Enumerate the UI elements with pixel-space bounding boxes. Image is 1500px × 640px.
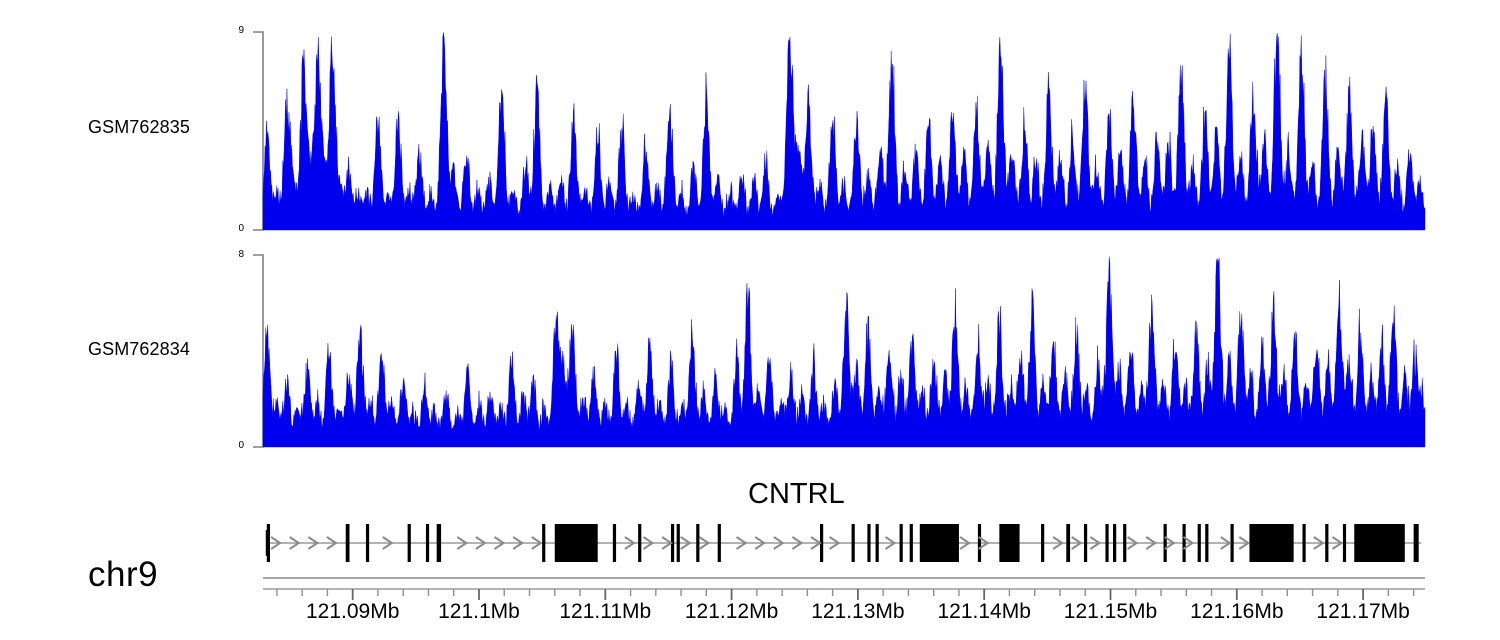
track1-coverage-signal [263,33,1425,230]
gene-exon [542,524,545,562]
gene-exon [852,524,855,562]
gene-exon [1105,524,1108,562]
gene-exon [1343,524,1346,562]
gene-exon [1164,524,1167,562]
gene-exon [677,524,680,562]
gene-exon [638,524,641,562]
track1-y-axis [253,32,263,230]
gene-exon [613,524,616,562]
gene-exon [267,524,270,562]
gene-exon [1198,524,1201,562]
gene-exon [910,524,913,562]
gene-exon [1041,524,1044,562]
gene-exon [1066,524,1070,562]
gene-exon [1354,524,1405,562]
gene-exon [1123,524,1126,562]
gene-exon [346,524,350,562]
track2-y-axis [253,255,263,447]
gene-exon [876,524,879,562]
gene-exon [1205,524,1208,562]
gene-exon [1325,524,1328,562]
gene-exon [696,524,699,562]
coverage-plot-canvas [0,0,1500,640]
gene-model-track[interactable] [267,524,1421,562]
gene-exon [978,524,981,562]
gene-exon [1414,524,1419,562]
gene-exon [1302,524,1305,562]
gene-exon [718,524,721,562]
gene-exon [920,524,959,562]
gene-exon [437,524,441,562]
genome-browser-figure: GSM762835 GSM762834 9 0 8 0 CNTRL chr9 1… [0,0,1500,640]
gene-exon [900,524,903,562]
track2-coverage-signal [263,257,1425,447]
gene-exon [555,524,598,562]
genomic-coordinate-ruler [263,578,1425,600]
gene-exon [1084,524,1087,562]
gene-exon [1113,524,1116,562]
gene-exon [999,524,1019,562]
gene-exon [867,524,870,562]
gene-exon [366,524,369,562]
gene-exon [1182,524,1185,562]
gene-exon [1249,524,1293,562]
gene-exon [426,524,429,562]
gene-exon [408,524,411,562]
